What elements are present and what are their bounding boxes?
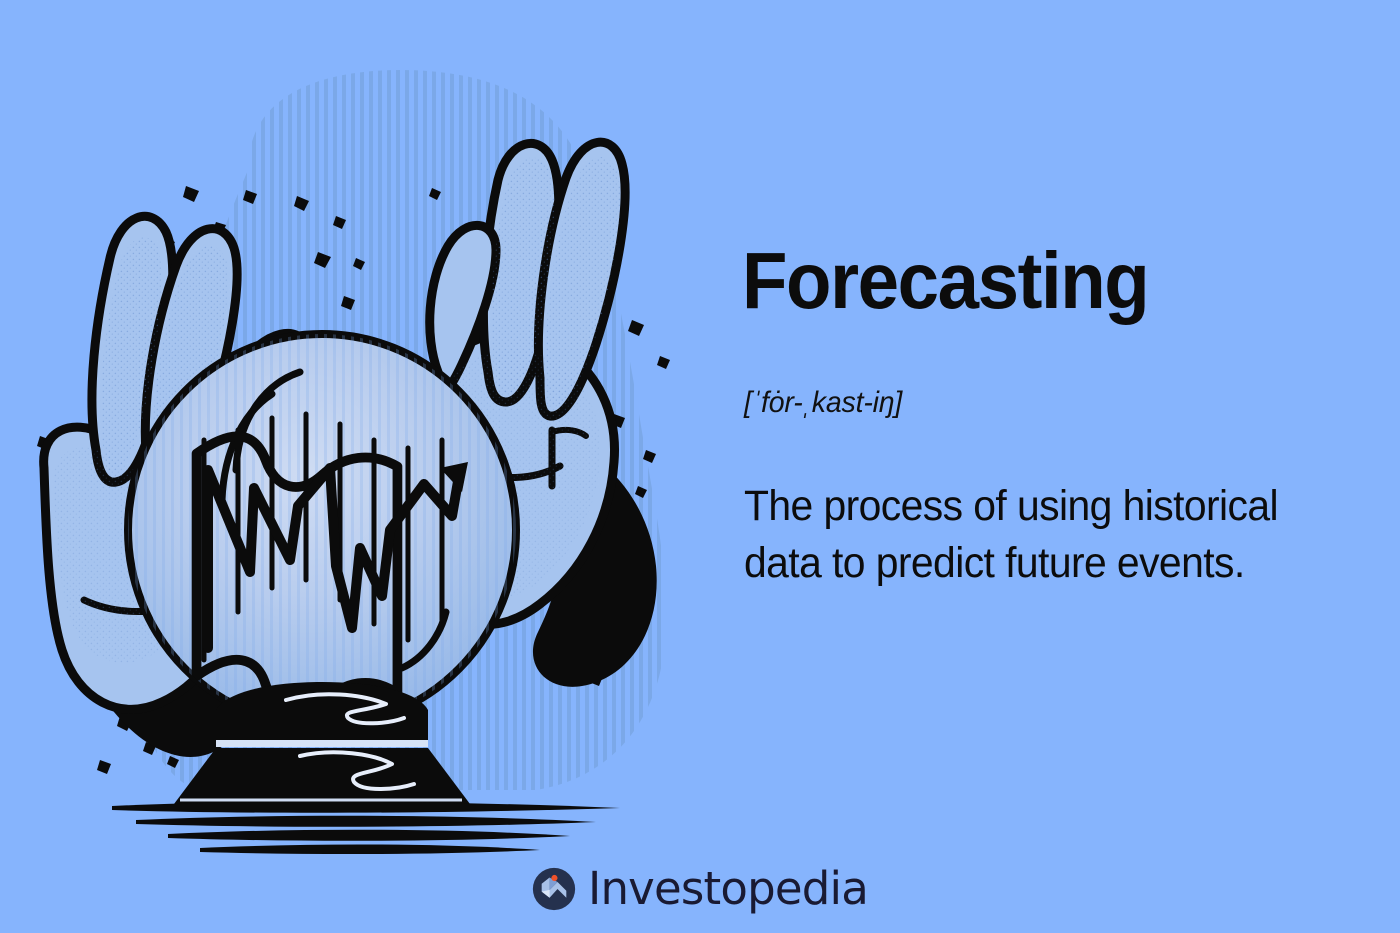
- page-title: Forecasting: [742, 243, 1148, 319]
- brand-wordmark: Investopedia: [588, 866, 868, 911]
- brand-footer: Investopedia: [0, 866, 1400, 911]
- definition-text-block: Forecasting [ˈfȯr-ˌkast-iŋ] The process …: [742, 0, 1342, 860]
- pronunciation: [ˈfȯr-ˌkast-iŋ]: [744, 385, 902, 421]
- illustration: [0, 0, 730, 860]
- definition-card: Forecasting [ˈfȯr-ˌkast-iŋ] The process …: [0, 0, 1400, 933]
- investopedia-circle-arrow-icon: [532, 867, 576, 911]
- ground-shadow-lines: [112, 802, 620, 854]
- definition-text: The process of using historical data to …: [744, 478, 1295, 592]
